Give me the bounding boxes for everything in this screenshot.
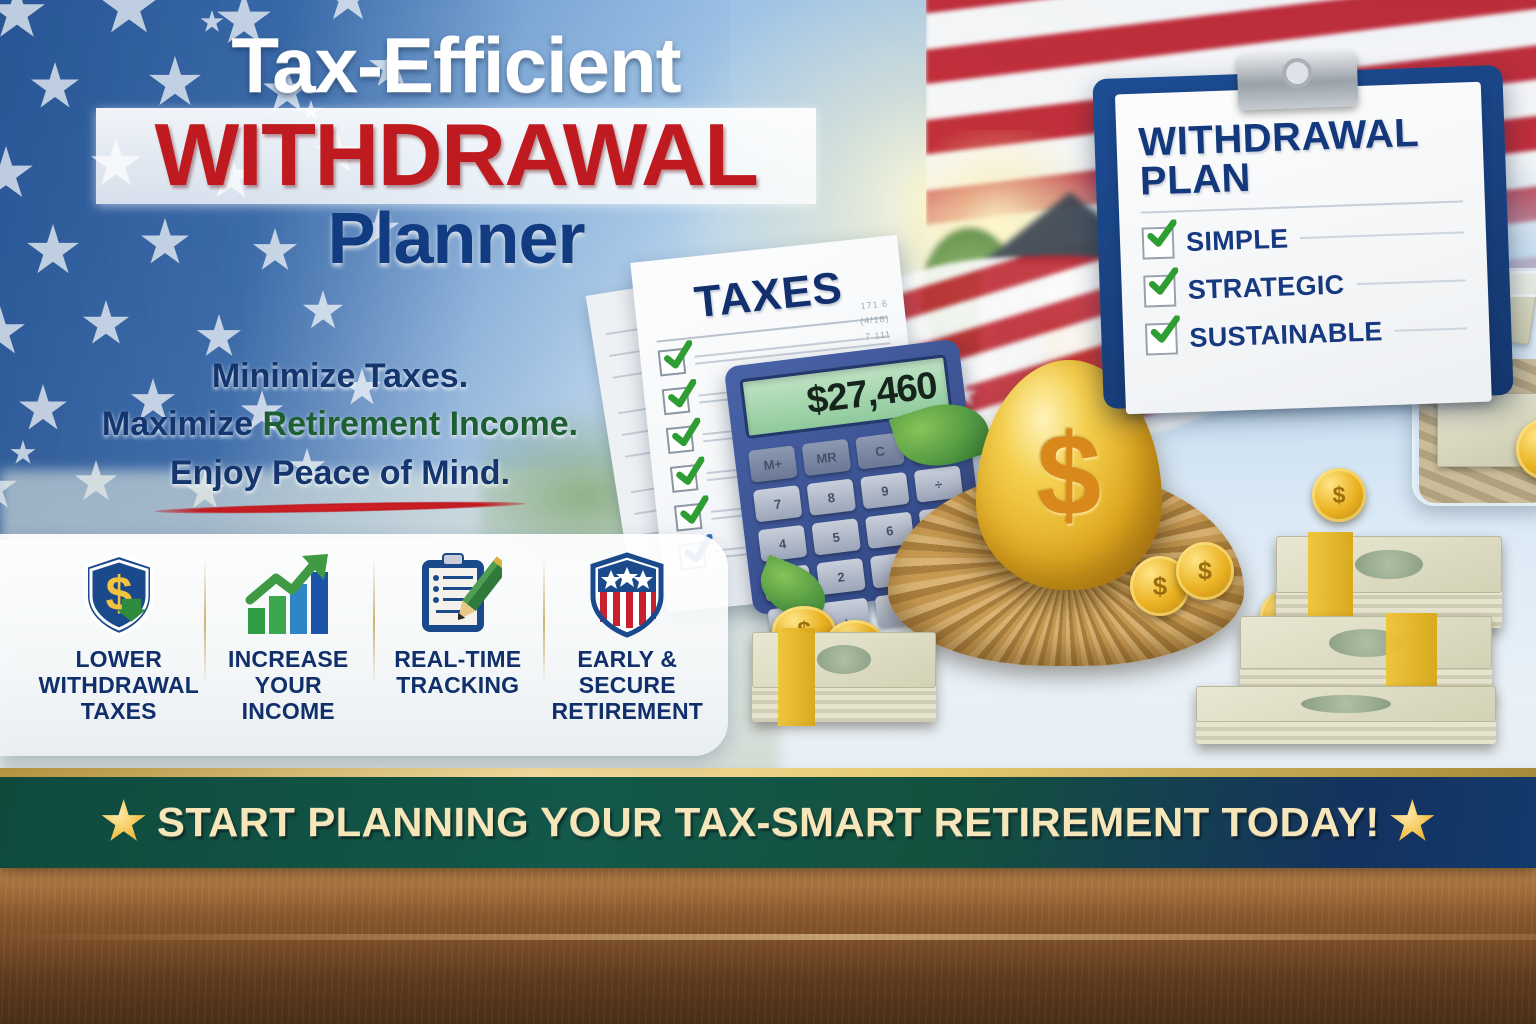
clipboard-title-line2: PLAN — [1139, 152, 1462, 202]
checkbox[interactable] — [1145, 323, 1178, 356]
clipboard-pencil-icon — [377, 552, 539, 638]
gold-coin-icon: $ — [1312, 468, 1366, 522]
headline-line-2: WITHDRAWAL — [89, 110, 823, 200]
calculator-key[interactable]: MR — [802, 439, 852, 476]
calculator-key[interactable]: 4 — [758, 525, 808, 562]
feature-item-early-secure-retirement[interactable]: Early & Secure Retirement — [543, 552, 713, 724]
star-icon — [101, 799, 147, 845]
headline-line-3: Planner — [96, 202, 816, 278]
feature-label: Real-Time Tracking — [377, 646, 539, 698]
clipboard-item-label: SUSTAINABLE — [1189, 316, 1383, 354]
flag-star — [30, 62, 80, 112]
flag-star — [26, 224, 80, 278]
patriotic-shield-icon — [547, 552, 709, 638]
flag-star — [0, 146, 34, 202]
cta-text: Start Planning Your Tax-Smart Retirement… — [157, 799, 1380, 846]
checkbox[interactable] — [670, 464, 699, 493]
checkbox[interactable] — [674, 503, 703, 532]
calculator-key[interactable]: 7 — [753, 485, 803, 522]
shield-dollar-down-icon: $ — [38, 552, 200, 638]
taxes-scribble-text: 171 6 (4/18) 7 111 — [802, 296, 892, 351]
clipboard-checklist-item[interactable]: SIMPLE — [1142, 217, 1465, 260]
withdrawal-plan-clipboard: WITHDRAWAL PLAN SIMPLESTRATEGICSUSTAINAB… — [1092, 65, 1513, 409]
dollar-sign-icon: $ — [1037, 417, 1102, 533]
clipboard-item-rule — [1300, 232, 1464, 240]
flag-star — [302, 290, 344, 332]
clipboard-checklist-item[interactable]: SUSTAINABLE — [1145, 313, 1468, 356]
calculator-key[interactable]: M+ — [748, 445, 798, 482]
flag-star — [10, 440, 36, 466]
calculator-key[interactable]: 8 — [806, 478, 856, 515]
check-icon — [674, 456, 707, 489]
calculator-key[interactable]: 9 — [860, 472, 910, 509]
check-icon — [670, 418, 703, 451]
cash-stack — [1196, 686, 1496, 744]
subtitle-line-2-prefix: Maximize — [102, 405, 263, 443]
checkbox[interactable] — [662, 387, 691, 416]
check-icon — [666, 379, 699, 412]
checkbox[interactable] — [658, 348, 687, 377]
check-icon — [662, 340, 695, 373]
clipboard-clip-icon — [1237, 50, 1359, 110]
checkbox[interactable] — [1143, 275, 1176, 308]
clipboard-item-rule — [1395, 328, 1468, 333]
subtitle-line-2: Maximize Retirement Income. — [70, 400, 610, 448]
subtitle-block: Minimize Taxes. Maximize Retirement Inco… — [70, 352, 610, 512]
check-icon — [1148, 268, 1179, 299]
headline-highlight-band: WITHDRAWAL — [96, 108, 816, 204]
subtitle-line-3: Enjoy Peace of Mind. — [70, 449, 610, 497]
headline-block: Tax-Efficient WITHDRAWAL Planner — [96, 26, 816, 277]
cash-stack — [752, 632, 936, 722]
check-icon — [1146, 220, 1177, 251]
star-icon — [1389, 799, 1435, 845]
checkbox[interactable] — [666, 425, 695, 454]
flag-star — [18, 384, 68, 434]
gold-coin-icon: $ — [1176, 542, 1234, 600]
clipboard-item-label: STRATEGIC — [1187, 269, 1345, 305]
promotional-banner: TAXES 171 6 (4/18) 7 111 $27,460 M+MRCCE… — [0, 0, 1536, 1024]
feature-item-lower-withdrawal-taxes[interactable]: $ Lower Withdrawal Taxes — [34, 552, 204, 724]
feature-label: Increase Your Income — [208, 646, 370, 724]
check-icon — [1150, 316, 1181, 347]
calculator-key[interactable]: 2 — [816, 558, 866, 595]
feature-label: Early & Secure Retirement — [547, 646, 709, 724]
check-icon — [678, 495, 711, 528]
calculator-key[interactable]: 5 — [811, 518, 861, 555]
subtitle-line-1: Minimize Taxes. — [70, 352, 610, 400]
clipboard-checklist-item[interactable]: STRATEGIC — [1143, 265, 1466, 308]
bar-chart-up-icon — [208, 552, 370, 638]
subtitle-line-2-highlight: Retirement Income. — [263, 405, 579, 443]
divider — [1141, 201, 1463, 214]
feature-panel: $ Lower Withdrawal Taxes Increase Your I… — [0, 534, 728, 756]
headline-line-1: Tax-Efficient — [96, 26, 816, 104]
clipboard-sheet: WITHDRAWAL PLAN SIMPLESTRATEGICSUSTAINAB… — [1115, 82, 1492, 415]
checkbox[interactable] — [1142, 227, 1175, 260]
clipboard-item-label: SIMPLE — [1186, 223, 1289, 258]
feature-label: Lower Withdrawal Taxes — [38, 646, 200, 724]
wood-highlight — [0, 934, 1536, 940]
clipboard-item-rule — [1356, 280, 1465, 286]
flag-star — [82, 300, 130, 348]
flag-star — [0, 306, 26, 358]
feature-item-increase-your-income[interactable]: Increase Your Income — [204, 552, 374, 724]
clipboard-checklist: SIMPLESTRATEGICSUSTAINABLE — [1142, 217, 1468, 356]
flag-star — [0, 0, 46, 42]
cta-banner[interactable]: Start Planning Your Tax-Smart Retirement… — [0, 776, 1536, 868]
feature-item-real-time-tracking[interactable]: Real-Time Tracking — [373, 552, 543, 698]
